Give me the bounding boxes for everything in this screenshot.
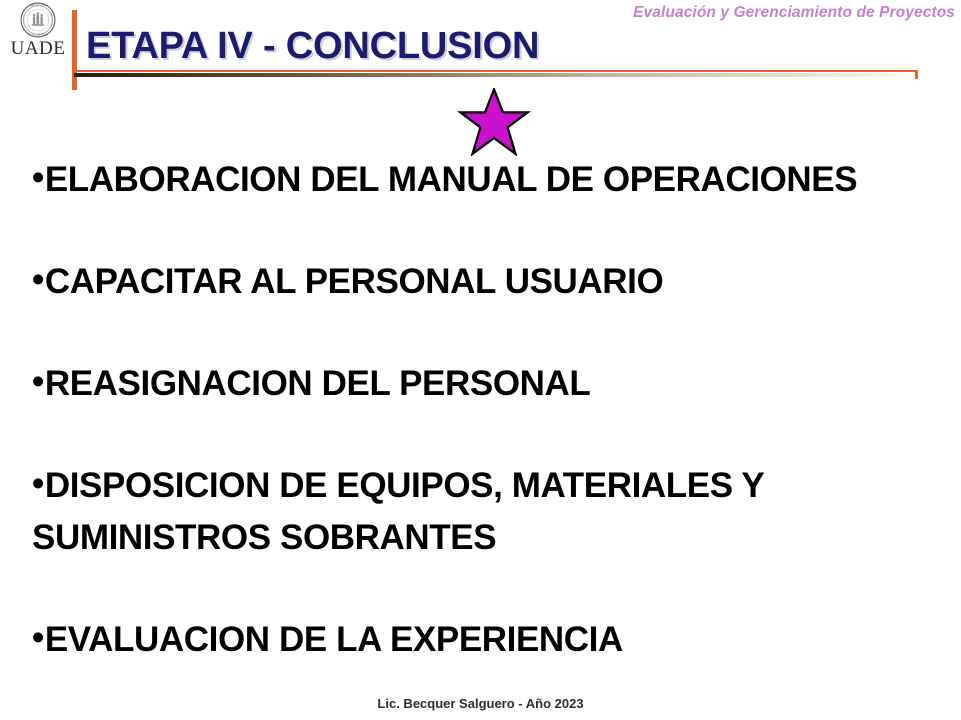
bullet-dot-icon: •	[32, 364, 44, 399]
page-title: ETAPA IV - CONCLUSION	[86, 25, 539, 68]
svg-text:ARGENTINA: ARGENTINA	[51, 12, 54, 26]
list-item-continuation: SUMINISTROS SOBRANTES	[32, 520, 932, 564]
uade-logo: ARGENTINA DE LA EMPRESA UNIVERSIDAD ARGE…	[6, 0, 70, 72]
list-item-label: SUMINISTROS SOBRANTES	[32, 518, 496, 557]
course-kicker: Evaluación y Gerenciamiento de Proyectos	[620, 4, 955, 22]
list-item: •DISPOSICION DE EQUIPOS, MATERIALES Y	[32, 468, 932, 512]
svg-text:DE LA EMPRESA: DE LA EMPRESA	[28, 33, 49, 36]
divider-top-line	[74, 70, 918, 72]
slide-footer: Lic. Becquer Salguero - Año 2023	[0, 696, 961, 711]
divider-gradient-bar	[74, 73, 918, 77]
list-item-label: EVALUACION DE LA EXPERIENCIA	[45, 620, 623, 659]
list-item: •ELABORACION DEL MANUAL DE OPERACIONES	[32, 162, 932, 206]
list-item: •EVALUACION DE LA EXPERIENCIA	[32, 622, 932, 666]
bullet-dot-icon: •	[32, 160, 44, 195]
slide-canvas: ARGENTINA DE LA EMPRESA UNIVERSIDAD ARGE…	[0, 0, 961, 720]
svg-text:ARGENTINA: ARGENTINA	[30, 5, 46, 8]
bullet-dot-icon: •	[32, 620, 44, 655]
list-item-label: REASIGNACION DEL PERSONAL	[45, 364, 591, 403]
list-item: •CAPACITAR AL PERSONAL USUARIO	[32, 264, 932, 308]
university-seal-icon: ARGENTINA DE LA EMPRESA UNIVERSIDAD ARGE…	[20, 2, 56, 38]
svg-text:UNIVERSIDAD: UNIVERSIDAD	[22, 14, 25, 30]
bullet-list: •ELABORACION DEL MANUAL DE OPERACIONES •…	[32, 162, 932, 666]
uade-wordmark: UADE	[6, 39, 70, 58]
list-item: •REASIGNACION DEL PERSONAL	[32, 366, 932, 410]
bullet-dot-icon: •	[32, 262, 44, 297]
list-item-label: ELABORACION DEL MANUAL DE OPERACIONES	[45, 160, 857, 199]
divider-end-cap	[915, 70, 918, 79]
list-item-label: CAPACITAR AL PERSONAL USUARIO	[45, 262, 663, 301]
header-divider-rule	[74, 70, 918, 79]
bullet-dot-icon: •	[32, 466, 44, 501]
list-item-label: DISPOSICION DE EQUIPOS, MATERIALES Y	[45, 466, 764, 505]
star-icon	[456, 88, 532, 156]
